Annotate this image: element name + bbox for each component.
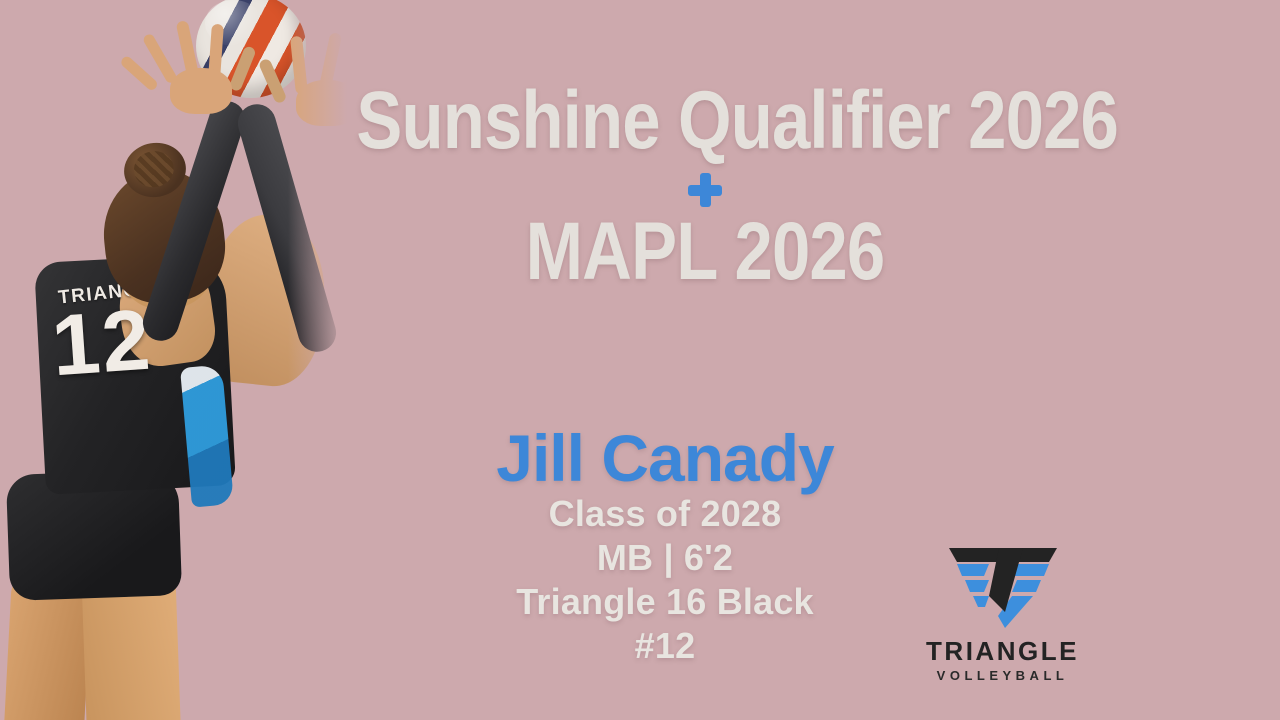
triangle-volleyball-logo: TRIANGLE VOLLEYBALL: [905, 538, 1100, 698]
player-info-block: Jill Canady Class of 2028 MB | 6'2 Trian…: [400, 425, 930, 668]
event-title-line1: Sunshine Qualifier 2026: [356, 82, 1053, 161]
player-name: Jill Canady: [400, 425, 930, 492]
player-class: Class of 2028: [400, 492, 930, 536]
highlight-video-frame: TRIANGLE 12 Sunshine Qualif: [0, 0, 1280, 720]
player-position-height: MB | 6'2: [400, 536, 930, 580]
logo-name-text: TRIANGLE: [905, 638, 1100, 664]
jersey-number-text: 12: [49, 297, 154, 390]
athlete-left-hand: [148, 18, 260, 114]
logo-subtitle-text: VOLLEYBALL: [905, 669, 1100, 682]
plus-icon: [688, 173, 722, 207]
event-title-block: Sunshine Qualifier 2026 MAPL 2026: [290, 82, 1120, 291]
triangle-logo-mark-icon: [943, 538, 1063, 630]
player-team: Triangle 16 Black: [400, 580, 930, 624]
event-title-line2: MAPL 2026: [356, 213, 1053, 292]
player-number: #12: [400, 624, 930, 668]
